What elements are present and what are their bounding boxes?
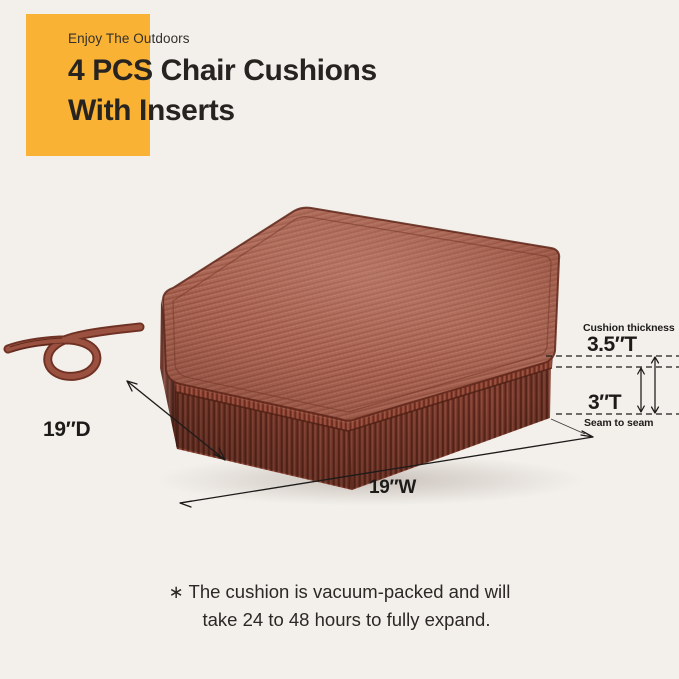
tie-strap <box>8 327 140 376</box>
note-line-2: take 24 to 48 hours to fully expand. <box>0 606 679 634</box>
depth-arrow <box>127 381 225 460</box>
note-line-1-wrap: ∗ The cushion is vacuum-packed and will <box>0 578 679 606</box>
headline-line-2: With Inserts <box>68 93 377 128</box>
seam-caption: Seam to seam <box>584 417 653 429</box>
cushion-front-face <box>150 350 580 510</box>
thickness-seam-arrow <box>638 368 645 412</box>
product-infographic: Enjoy The Outdoors 4 PCS Chair Cushions … <box>0 0 679 679</box>
depth-label: 19″D <box>43 418 90 442</box>
thickness-total-arrow <box>652 357 659 413</box>
eyebrow-text: Enjoy The Outdoors <box>68 30 377 48</box>
note-line-1: The cushion is vacuum-packed and will <box>189 581 511 602</box>
cushion-left-face <box>160 299 177 449</box>
width-label: 19″W <box>369 477 416 499</box>
header: Enjoy The Outdoors 4 PCS Chair Cushions … <box>68 30 377 128</box>
thickness-seam-label: 3″T <box>588 391 621 415</box>
headline-line-1: 4 PCS Chair Cushions <box>68 53 377 88</box>
cushion-top-face <box>150 200 580 430</box>
vacuum-pack-note: ∗ The cushion is vacuum-packed and will … <box>0 578 679 634</box>
thickness-total-label: 3.5″T <box>587 333 637 357</box>
asterisk-icon: ∗ <box>169 582 184 602</box>
cushion-piping <box>174 353 553 431</box>
